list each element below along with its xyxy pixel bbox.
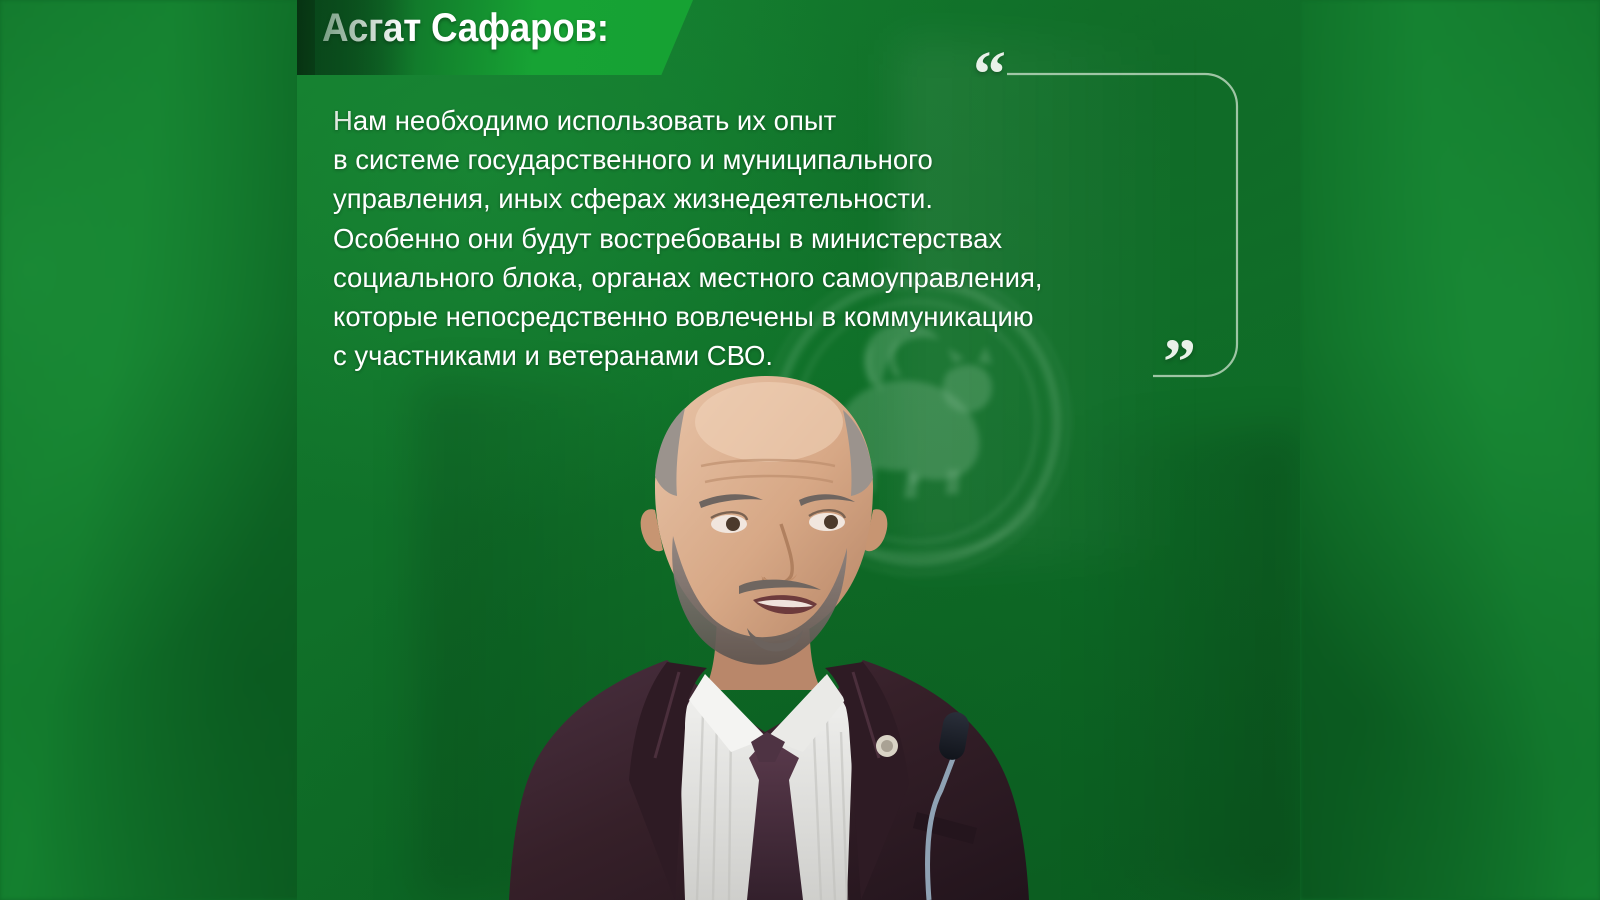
blurred-right-panel xyxy=(1300,0,1600,900)
quote-line: Особенно они будут востребованы в минист… xyxy=(333,219,1263,258)
quote-line: социального блока, органах местного само… xyxy=(333,258,1263,297)
quote-line: Нам необходимо использовать их опыт xyxy=(333,101,1263,140)
speaker-portrait-photo xyxy=(417,360,1177,900)
quote-line: в системе государственного и муниципальн… xyxy=(333,140,1263,179)
poster-canvas: Асгат Сафаров: “ ” Нам необходимо исполь… xyxy=(0,0,1600,900)
blurred-left-panel xyxy=(0,0,300,900)
quote-line: управления, иных сферах жизнедеятельност… xyxy=(333,179,1263,218)
speaker-name-label: Асгат Сафаров: xyxy=(322,6,609,51)
poster-content: Асгат Сафаров: “ ” Нам необходимо исполь… xyxy=(297,0,1300,900)
quote-line: которые непосредственно вовлечены в комм… xyxy=(333,297,1263,336)
quote-text-block: Нам необходимо использовать их опыт в си… xyxy=(333,101,1263,375)
quote-open-mark-icon: “ xyxy=(973,42,1006,108)
